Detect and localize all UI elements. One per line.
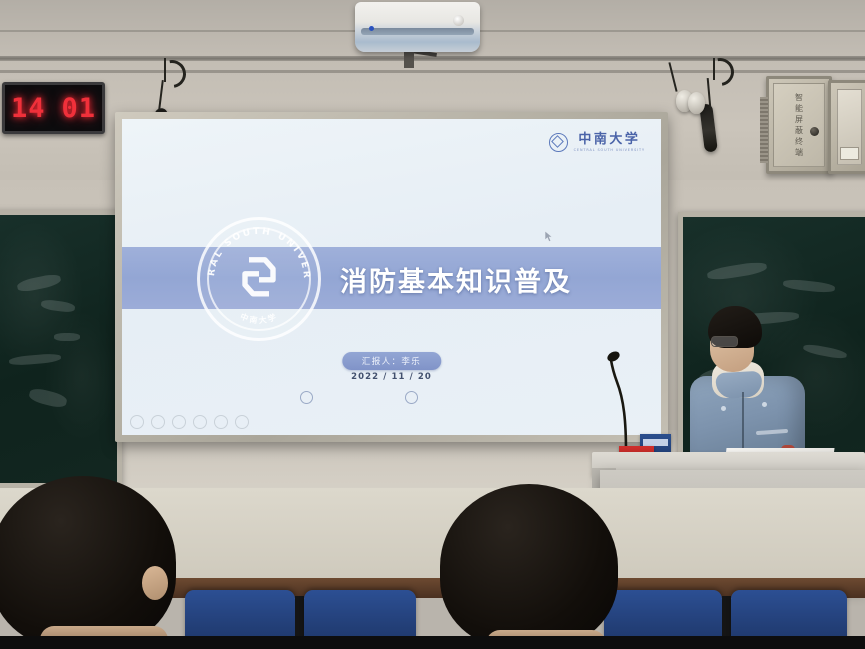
presenter-jacket-button-2 — [762, 402, 767, 407]
student-head-center — [440, 484, 618, 649]
wall-cabinet-terminal: 智能屏蔽终端 — [766, 76, 832, 174]
cabinet-lock-icon[interactable] — [810, 127, 819, 136]
slide-title: 消防基本知识普及 — [340, 253, 650, 305]
foreground-shadow — [0, 636, 865, 649]
zoom-icon[interactable] — [193, 415, 207, 429]
seal-interlock-mark-icon — [229, 250, 289, 304]
clock-hours: 14 — [11, 95, 46, 122]
cabinet-secondary-tag — [840, 147, 859, 160]
more-options-icon[interactable] — [214, 415, 228, 429]
slide-header-logo-cn: 中南大学 — [578, 133, 640, 146]
cabinet-vent — [760, 97, 768, 163]
slide-header-logo: 中南大学 CENTRAL SOUTH UNIVERSITY — [549, 133, 645, 152]
chalkboard-left — [0, 210, 122, 488]
podium-gooseneck-mic — [607, 352, 631, 452]
ceiling-projector — [355, 2, 480, 52]
slide-decoration-circle-right — [405, 391, 418, 404]
projection-screen[interactable]: 中南大学 CENTRAL SOUTH UNIVERSITY CENTRAL SO… — [122, 119, 661, 435]
svg-text:中南大学: 中南大学 — [239, 311, 279, 325]
wall-cabinet-secondary — [828, 80, 865, 174]
projector-vent-band — [361, 28, 474, 35]
powerpoint-slide[interactable]: 中南大学 CENTRAL SOUTH UNIVERSITY CENTRAL SO… — [122, 119, 661, 435]
classroom-photo: 14 01 智能屏蔽终端 — [0, 0, 865, 649]
slide-date: 2022 / 11 / 20 — [351, 372, 432, 382]
presenter-jacket-button-1 — [721, 406, 726, 411]
mouse-cursor-icon — [545, 231, 554, 242]
student-head-left — [0, 476, 176, 649]
csu-logo-mark-icon — [549, 133, 568, 152]
wall-lamp-bulb-2 — [688, 92, 705, 114]
slide-decoration-circle-left — [300, 391, 313, 404]
pen-icon[interactable] — [130, 415, 144, 429]
ppt-presenter-toolbar[interactable] — [130, 415, 249, 429]
blue-box-label — [643, 439, 668, 446]
clock-minutes: 01 — [62, 95, 97, 122]
laser-pointer-icon[interactable] — [151, 415, 165, 429]
projection-screen-frame: 中南大学 CENTRAL SOUTH UNIVERSITY CENTRAL SO… — [115, 112, 668, 442]
ceiling-conduit — [0, 56, 865, 61]
end-show-icon[interactable] — [235, 415, 249, 429]
projector-mount — [404, 50, 414, 68]
slide-header-logo-en: CENTRAL SOUTH UNIVERSITY — [574, 148, 645, 152]
ceiling-conduit-secondary — [0, 70, 865, 73]
projector-power-led — [369, 26, 374, 31]
presenter-glasses-icon — [711, 336, 738, 347]
slides-grid-icon[interactable] — [172, 415, 186, 429]
student-left-ear — [142, 566, 168, 600]
cabinet-label: 智能屏蔽终端 — [794, 93, 805, 159]
standing-presenter — [690, 306, 805, 471]
chalkboard-left-surface — [0, 215, 117, 483]
csu-seal-watermark-icon: CENTRAL SOUTH UNIVERSITY 中南大学 — [197, 217, 321, 341]
led-wall-clock: 14 01 — [2, 82, 105, 134]
presenter-pill: 汇报人：李乐 — [342, 352, 441, 370]
projector-lens — [453, 15, 464, 26]
